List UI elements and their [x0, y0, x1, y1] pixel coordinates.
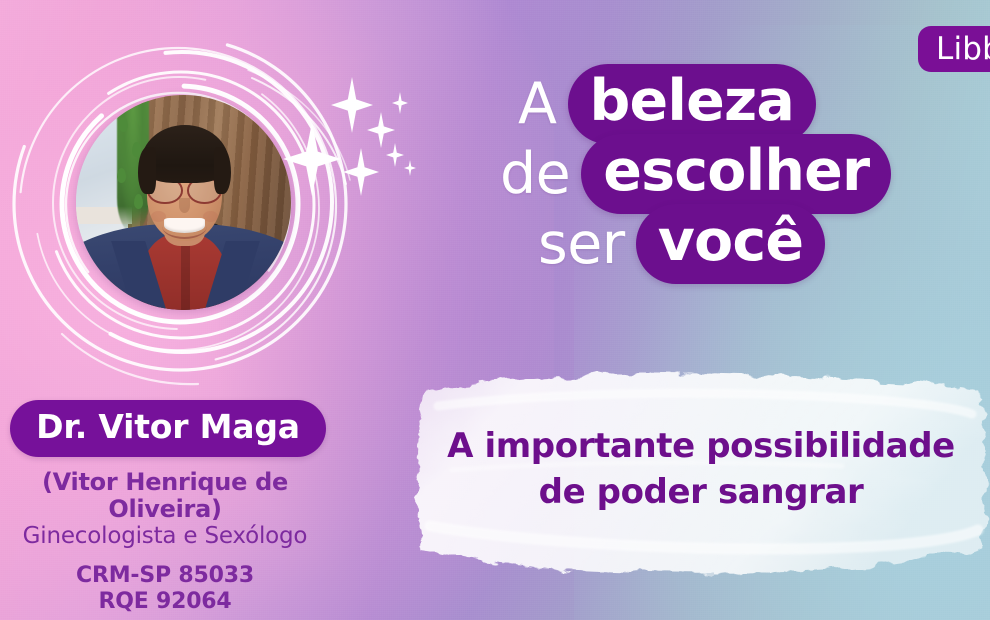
doctor-rqe-number: RQE 92064 — [0, 590, 330, 615]
doctor-full-name: (Vitor Henrique de Oliveira) — [0, 469, 330, 523]
subtitle-block: A importante possibilidade de poder sang… — [412, 366, 990, 584]
brand-badge-libbs[interactable]: Libb — [918, 26, 990, 72]
brand-badge-label: Libb — [936, 34, 990, 65]
headline-plain-word: ser — [538, 216, 636, 273]
promo-banner: Libb — [0, 0, 990, 620]
subtitle-line-1: A importante possibilidade — [412, 424, 990, 470]
doctor-credentials: Dr. Vitor Maga (Vitor Henrique de Olivei… — [0, 400, 330, 615]
doctor-name-badge: Dr. Vitor Maga — [10, 400, 326, 457]
headline-pill-word: você — [636, 204, 826, 284]
subtitle-line-2: de poder sangrar — [412, 470, 990, 516]
doctor-specialty: Ginecologista e Sexólogo — [0, 524, 330, 550]
headline-plain-word: de — [500, 146, 581, 203]
headline-pill-word: escolher — [581, 134, 891, 214]
headline: A beleza de escolher ser você — [500, 66, 920, 282]
headline-line-1: A beleza — [500, 66, 920, 142]
headline-pill-word: beleza — [568, 64, 817, 144]
headline-plain-word: A — [518, 76, 568, 133]
subtitle-text: A importante possibilidade de poder sang… — [412, 424, 990, 515]
doctor-crm-number: CRM-SP 85033 — [0, 564, 330, 589]
headline-line-3: ser você — [500, 206, 920, 282]
headline-line-2: de escolher — [500, 136, 920, 212]
portrait-cluster — [2, 34, 358, 390]
doctor-portrait-photo — [76, 95, 291, 310]
